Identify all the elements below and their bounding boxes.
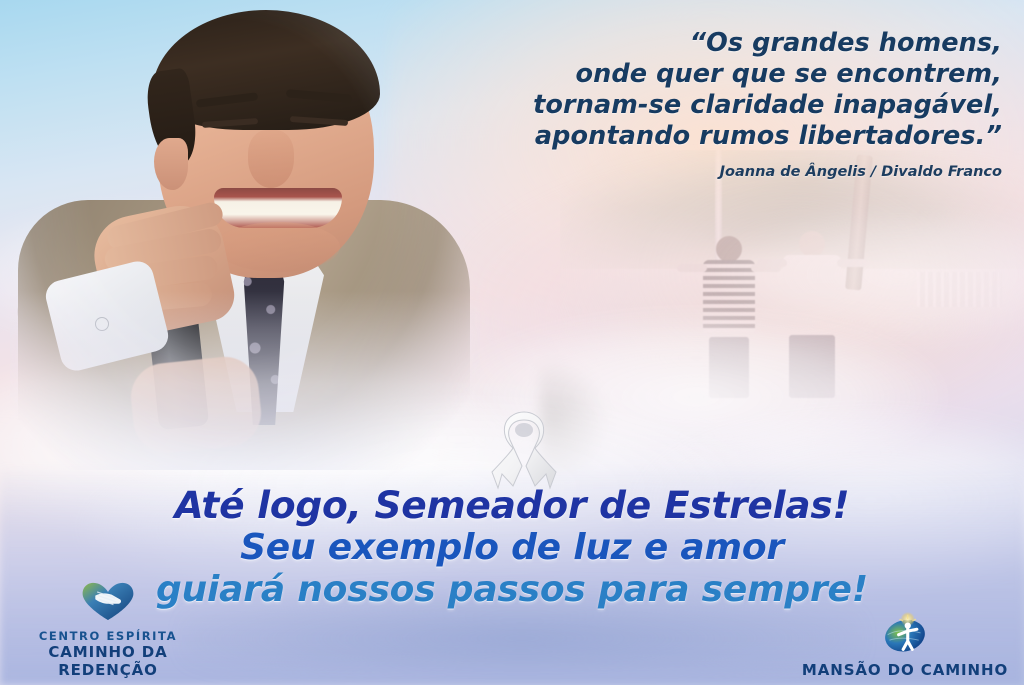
quote-line-4: apontando rumos libertadores.” xyxy=(382,121,1002,152)
photo-person-arm-left xyxy=(757,259,787,267)
headline-line-1: Até logo, Semeador de Estrelas! xyxy=(0,484,1024,527)
photo-person-head xyxy=(716,236,742,262)
photo-person-legs xyxy=(709,337,749,399)
globe-figure-icon xyxy=(800,611,1010,658)
portrait-chin xyxy=(216,222,340,272)
quote-line-1: “Os grandes homens, xyxy=(382,28,1002,59)
photo-person-arm-left xyxy=(677,264,707,272)
portrait-fade-out xyxy=(10,291,480,470)
memorial-poster: “Os grandes homens, onde quer que se enc… xyxy=(0,0,1024,685)
photo-person-head xyxy=(799,231,825,257)
logo-centro-espirita: CENTRO ESPÍRITA CAMINHO DA REDENÇÃO xyxy=(8,581,208,679)
quote-block: “Os grandes homens, onde quer que se enc… xyxy=(382,28,1002,180)
quote-line-2: onde quer que se encontrem, xyxy=(382,59,1002,90)
portrait-nose xyxy=(248,130,294,188)
portrait-ear xyxy=(154,138,188,190)
background-photo-two-men-walking xyxy=(560,150,1024,420)
logo-mansao-do-caminho: MANSÃO DO CAMINHO xyxy=(800,611,1010,679)
photo-fence xyxy=(917,272,1002,307)
heart-hands-icon xyxy=(8,581,208,626)
white-ribbon-icon xyxy=(489,408,559,492)
photo-person-legs xyxy=(789,335,835,399)
logo-line-1: MANSÃO DO CAMINHO xyxy=(800,661,1010,679)
photo-person-white-shirt xyxy=(781,231,843,398)
photo-person-torso xyxy=(703,260,755,331)
logo-line-2: CAMINHO DA REDENÇÃO xyxy=(8,643,208,679)
photo-person-arm-right xyxy=(837,259,867,267)
quote-line-3: tornam-se claridade inapagável, xyxy=(382,90,1002,121)
quote-attribution: Joanna de Ângelis / Divaldo Franco xyxy=(382,164,1002,180)
photo-person-torso xyxy=(783,255,841,325)
photo-person-striped-shirt xyxy=(701,236,757,398)
headline-line-2: Seu exemplo de luz e amor xyxy=(0,527,1024,569)
logo-line-1: CENTRO ESPÍRITA xyxy=(8,629,208,643)
